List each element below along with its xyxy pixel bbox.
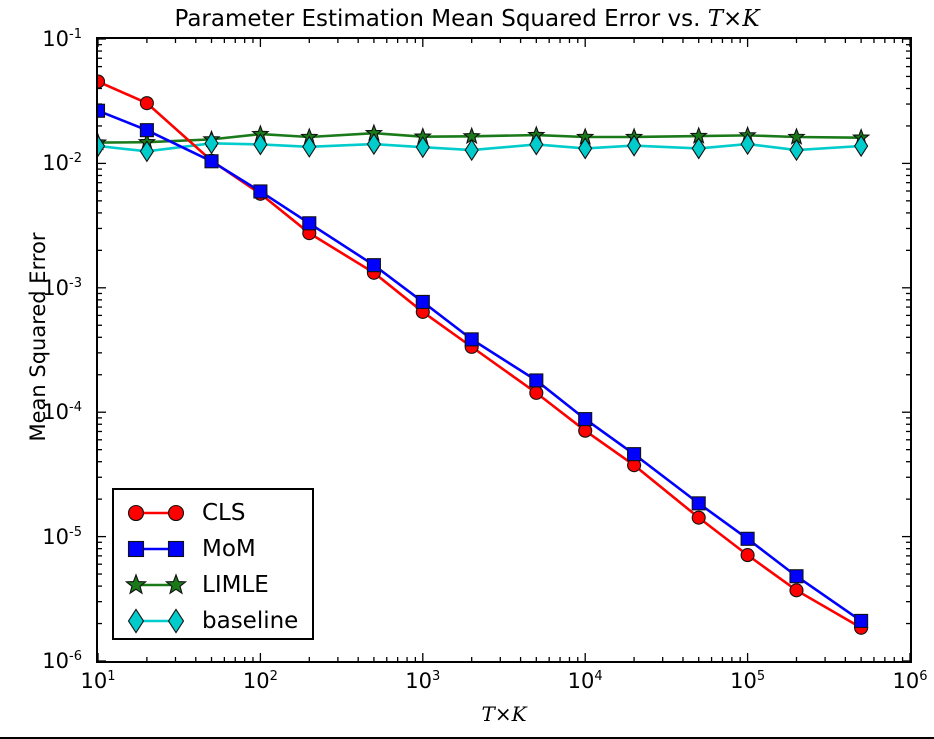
x-tick-label: 103 <box>405 669 440 693</box>
data-point-baseline <box>140 141 153 161</box>
data-point-mom <box>579 413 592 426</box>
data-point-mom <box>303 217 316 230</box>
legend-label: MoM <box>202 536 256 562</box>
data-point-cls <box>692 511 705 524</box>
x-tick-mantissa: 10 <box>892 669 919 693</box>
legend-marker <box>129 609 144 632</box>
legend-marker <box>126 575 145 593</box>
x-tick-exponent: 5 <box>757 669 765 684</box>
legend-marker <box>169 609 184 632</box>
y-tick-exponent: -3 <box>69 276 82 291</box>
chart-title-text: Parameter Estimation Mean Squared Error … <box>174 6 707 32</box>
data-point-mom <box>741 532 754 545</box>
x-tick-label: 102 <box>243 669 278 693</box>
data-point-mom <box>692 497 705 510</box>
data-point-mom <box>628 448 641 461</box>
x-tick-label: 101 <box>80 669 115 693</box>
data-point-mom <box>530 374 543 387</box>
x-tick-exponent: 3 <box>432 669 440 684</box>
legend-marker <box>129 506 144 521</box>
y-tick-exponent: -1 <box>69 27 82 42</box>
data-point-baseline <box>416 137 429 157</box>
data-point-cls <box>790 584 803 597</box>
x-tick-exponent: 4 <box>594 669 602 684</box>
x-tick-label: 106 <box>892 669 927 693</box>
y-axis-label: Mean Squared Error <box>26 24 50 650</box>
data-point-mom <box>205 155 218 168</box>
legend-label: CLS <box>202 500 245 526</box>
legend-marker-cls-icon <box>120 496 196 530</box>
y-tick-exponent: -2 <box>69 151 82 166</box>
x-axis-label-math-times: × <box>495 702 512 726</box>
x-axis-label-math-t: T <box>481 702 494 726</box>
x-tick-mantissa: 10 <box>80 669 107 693</box>
x-tick-mantissa: 10 <box>730 669 757 693</box>
x-tick-mantissa: 10 <box>243 669 270 693</box>
legend-item-baseline[interactable]: baseline <box>114 602 312 640</box>
x-tick-label: 105 <box>730 669 765 693</box>
data-point-mom <box>416 295 429 308</box>
legend-marker <box>129 542 144 557</box>
x-tick-exponent: 6 <box>919 669 927 684</box>
x-axis-label-math-k: K <box>512 702 527 726</box>
legend-marker <box>166 575 185 593</box>
data-point-cls <box>98 75 105 88</box>
data-point-baseline <box>855 136 868 156</box>
data-point-mom <box>367 259 380 272</box>
chart-title-math-k: K <box>742 6 759 32</box>
chart-title: Parameter Estimation Mean Squared Error … <box>0 6 934 32</box>
legend-item-cls[interactable]: CLS <box>114 494 312 532</box>
x-tick-mantissa: 10 <box>405 669 432 693</box>
legend-marker <box>169 506 184 521</box>
y-tick-mantissa: 10 <box>42 649 69 673</box>
chart-title-math-t: T <box>708 6 723 32</box>
x-tick-exponent: 1 <box>107 669 115 684</box>
chart-title-math-times: × <box>723 6 742 32</box>
data-point-mom <box>465 333 478 346</box>
legend-marker-limle-icon <box>120 568 196 602</box>
legend-marker-mom-icon <box>120 532 196 566</box>
data-point-baseline <box>303 137 316 157</box>
y-tick-exponent: -4 <box>69 400 82 415</box>
x-tick-label: 104 <box>568 669 603 693</box>
data-point-baseline <box>254 134 267 154</box>
y-tick-exponent: -6 <box>69 649 82 664</box>
chart-legend[interactable]: CLSMoMLIMLEbaseline <box>112 488 314 640</box>
x-axis-label: T×K <box>96 702 912 726</box>
data-point-mom <box>855 614 868 627</box>
figure-canvas: Parameter Estimation Mean Squared Error … <box>0 0 934 739</box>
x-tick-exponent: 2 <box>270 669 278 684</box>
data-point-cls <box>530 386 543 399</box>
legend-label: LIMLE <box>202 572 269 598</box>
data-point-mom <box>140 124 153 137</box>
legend-label: baseline <box>202 608 298 634</box>
legend-item-limle[interactable]: LIMLE <box>114 566 312 604</box>
data-point-cls <box>140 97 153 110</box>
x-axis-tick-labels: 101102103104105106 <box>96 669 912 703</box>
data-point-cls <box>741 549 754 562</box>
data-point-baseline <box>530 134 543 154</box>
data-point-mom <box>790 570 803 583</box>
data-point-baseline <box>98 136 105 156</box>
x-tick-mantissa: 10 <box>568 669 595 693</box>
y-tick-exponent: -5 <box>69 525 82 540</box>
data-point-baseline <box>741 134 754 154</box>
data-point-mom <box>254 185 267 198</box>
legend-marker <box>169 542 184 557</box>
data-point-baseline <box>628 136 641 156</box>
legend-item-mom[interactable]: MoM <box>114 530 312 568</box>
legend-marker-baseline-icon <box>120 604 196 638</box>
data-point-mom <box>98 104 105 117</box>
